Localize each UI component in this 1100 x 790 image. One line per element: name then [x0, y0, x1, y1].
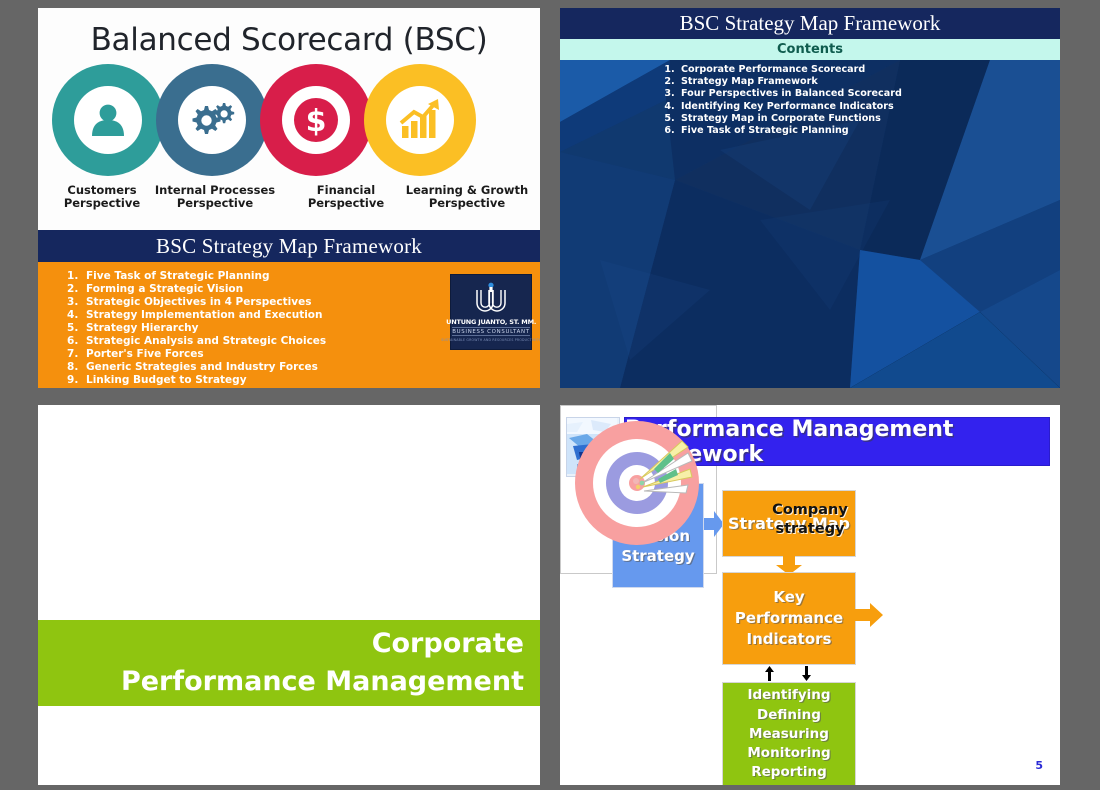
measure-item: Identifying	[747, 686, 830, 705]
consultant-logo: UNTUNG JUANTO, ST. MM. BUSINESS CONSULTA…	[450, 274, 532, 350]
contents-ol: Corporate Performance Scorecard Strategy…	[560, 64, 1060, 137]
perspective-label-financial: Financial Perspective	[286, 184, 406, 210]
measure-item: Reporting	[751, 763, 827, 782]
arrow-kpi-to-company-strategy	[855, 603, 883, 627]
bsc-banner-title: BSC Strategy Map Framework	[38, 230, 540, 262]
kpi-line1: Key	[773, 587, 804, 608]
measure-item: Monitoring	[747, 744, 830, 763]
contents-banner-title: BSC Strategy Map Framework	[560, 8, 1060, 39]
perspective-circle-financial: $	[260, 64, 372, 176]
measure-item: Measuring	[749, 725, 829, 744]
list-item: Five Task of Strategic Planning	[678, 125, 1060, 137]
slide-grid: Balanced Scorecard (BSC)	[0, 0, 1100, 790]
perspective-circle-internal-processes	[156, 64, 268, 176]
perspective-label-customers: Customers Perspective	[42, 184, 162, 210]
arrow-up-icon	[765, 666, 774, 681]
kpi-line3: Indicators	[747, 629, 832, 650]
gears-icon	[178, 86, 246, 154]
cpm-title-line1: Corporate	[372, 625, 524, 663]
list-item: Four Perspectives in Balanced Scorecard	[678, 88, 1060, 100]
measure-item: Defining	[757, 706, 821, 725]
growth-chart-icon	[386, 86, 454, 154]
box-measurement-activities: Identifying Defining Measuring Monitorin…	[722, 682, 856, 785]
contents-list: Corporate Performance Scorecard Strategy…	[560, 64, 1060, 137]
list-item: Generic Strategies and Industry Forces	[82, 361, 540, 373]
list-item: Strategy Map Framework	[678, 76, 1060, 88]
person-icon	[74, 86, 142, 154]
arrow-down-icon	[802, 666, 811, 681]
perspective-circle-learning-growth	[364, 64, 476, 176]
perspective-label-learning-growth: Learning & Growth Perspective	[398, 184, 536, 210]
logo-monogram-icon	[471, 282, 511, 316]
slide-balanced-scorecard[interactable]: Balanced Scorecard (BSC)	[38, 8, 540, 388]
target-line1: Company	[772, 502, 848, 518]
bsc-label-row: Customers Perspective Internal Processes…	[46, 184, 532, 224]
bsc-title: Balanced Scorecard (BSC)	[38, 22, 540, 58]
kpi-line2: Performance	[735, 608, 843, 629]
list-item: Strategy Map in Corporate Functions	[678, 113, 1060, 125]
list-item: Corporate Performance Scorecard	[678, 64, 1060, 76]
list-item: Linking Budget to Strategy	[82, 374, 540, 386]
slide-contents[interactable]: BSC Strategy Map Framework Contents Corp…	[560, 8, 1060, 388]
bsc-circle-row: $	[52, 64, 526, 176]
bidirectional-arrows	[765, 666, 811, 681]
slide-performance-management-framework[interactable]: Performance Management Framework Vision …	[560, 405, 1060, 785]
perspective-label-internal-processes: Internal Processes Perspective	[146, 184, 284, 210]
page-number: 5	[1035, 759, 1043, 772]
box-company-strategy-target: Company strategy	[560, 405, 717, 574]
list-item: Identifying Key Performance Indicators	[678, 101, 1060, 113]
svg-text:$: $	[306, 104, 327, 139]
company-strategy-label: Company strategy	[560, 501, 1060, 539]
cpm-title-band: Corporate Performance Management	[38, 620, 540, 706]
logo-tagline: SUSTAINABLE GROWTH AND RESOURCES PRODUCT…	[441, 338, 540, 342]
contents-section-label: Contents	[560, 39, 1060, 60]
target-line2: strategy	[775, 521, 844, 537]
logo-subtitle: BUSINESS CONSULTANT	[452, 327, 530, 336]
bsc-infographic: Balanced Scorecard (BSC)	[38, 8, 540, 230]
perspective-circle-customers	[52, 64, 164, 176]
dollar-icon: $	[282, 86, 350, 154]
slide-corporate-performance-management[interactable]: Corporate Performance Management	[38, 405, 540, 785]
box-key-performance-indicators: Key Performance Indicators	[722, 572, 856, 665]
logo-name: UNTUNG JUANTO, ST. MM.	[446, 318, 536, 326]
cpm-title-line2: Performance Management	[121, 663, 524, 701]
